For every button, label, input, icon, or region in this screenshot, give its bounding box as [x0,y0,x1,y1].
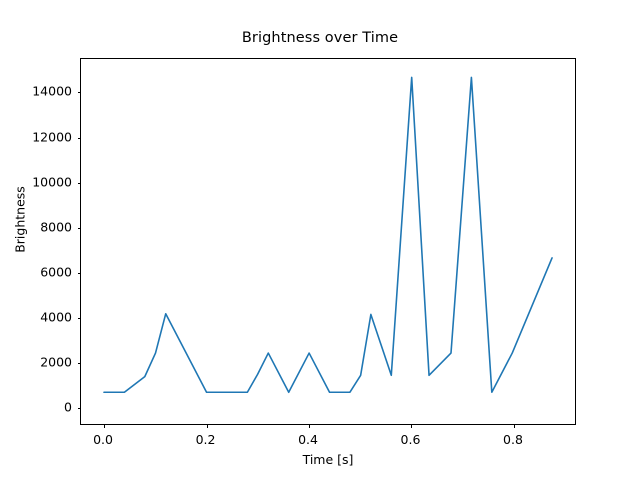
brightness-line [104,77,552,392]
x-tick-mark [514,424,515,428]
y-tick-label: 8000 [0,219,72,234]
y-tick-label: 10000 [0,174,72,189]
x-tick-mark [309,424,310,428]
x-tick-mark [411,424,412,428]
x-tick-mark [207,424,208,428]
y-tick-label: 0 [0,400,72,415]
y-tick-mark [78,363,82,364]
x-axis-label: Time [s] [80,452,576,467]
y-tick-mark [78,318,82,319]
y-tick-mark [78,183,82,184]
x-tick-label: 0.0 [93,432,113,447]
x-tick-mark [104,424,105,428]
x-tick-label: 0.2 [196,432,216,447]
line-series [81,59,575,424]
x-tick-label: 0.4 [298,432,318,447]
plot-area [80,58,576,425]
y-tick-label: 12000 [0,129,72,144]
y-tick-mark [78,138,82,139]
matplotlib-figure: Brightness over Time Brightness Time [s]… [0,0,640,480]
y-tick-mark [78,273,82,274]
y-tick-mark [78,228,82,229]
chart-title: Brightness over Time [0,30,640,46]
x-tick-label: 0.8 [503,432,523,447]
y-tick-label: 2000 [0,355,72,370]
x-tick-label: 0.6 [401,432,421,447]
y-tick-label: 4000 [0,310,72,325]
y-tick-mark [78,408,82,409]
y-tick-label: 6000 [0,264,72,279]
y-tick-label: 14000 [0,84,72,99]
y-tick-mark [78,92,82,93]
